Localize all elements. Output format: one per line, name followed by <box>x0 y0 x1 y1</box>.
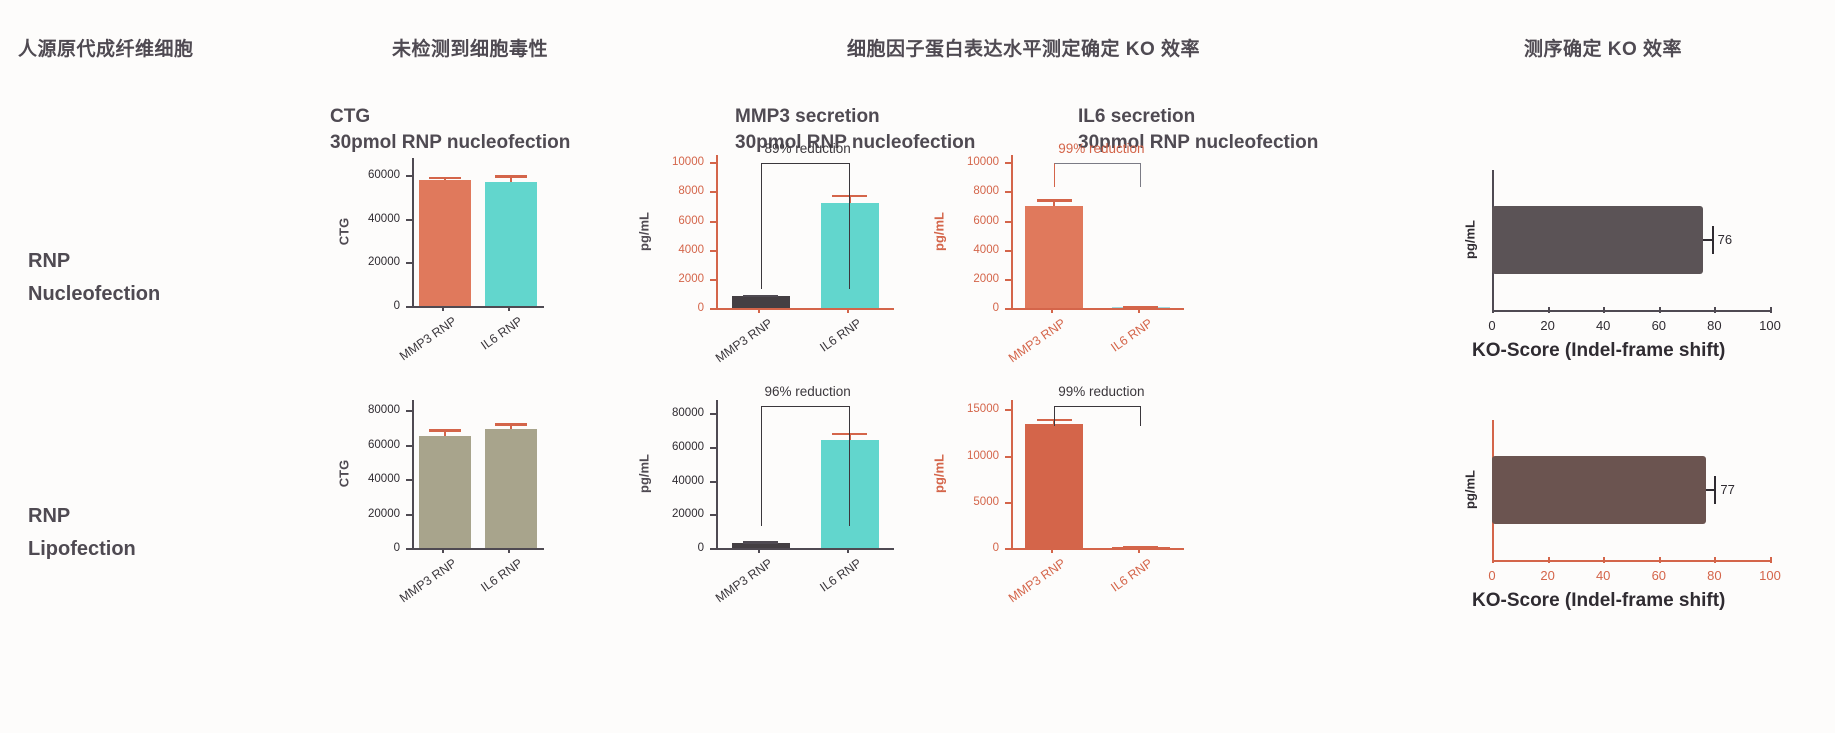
x-axis-tick-label: 60 <box>1652 568 1666 583</box>
bar-value-label: 77 <box>1720 482 1734 497</box>
y-axis-tick <box>710 250 716 252</box>
error-bar-cap <box>1123 546 1158 548</box>
bar <box>1492 206 1703 274</box>
y-axis-tick <box>710 162 716 164</box>
x-axis <box>1492 560 1770 562</box>
y-axis-tick <box>710 481 716 483</box>
y-axis-tick <box>1005 162 1011 164</box>
y-axis-tick-label: 5000 <box>943 496 999 508</box>
error-bar-cap <box>1123 306 1158 308</box>
error-bar-cap <box>495 175 526 177</box>
error-bar-cap <box>429 177 460 179</box>
x-axis-title: KO-Score (Indel-frame shift) <box>1472 590 1725 612</box>
x-axis-tick <box>1770 557 1772 563</box>
x-axis-tick <box>1548 307 1550 313</box>
y-axis <box>716 400 718 548</box>
x-axis-tick <box>1603 557 1605 563</box>
x-axis-tick <box>758 308 760 313</box>
y-axis-tick-label: 60000 <box>648 441 704 453</box>
y-axis <box>412 158 414 306</box>
x-axis-tick <box>1492 307 1494 313</box>
bar <box>1492 456 1706 524</box>
column-header-cell-type: 人源原代成纤维细胞 <box>18 34 194 61</box>
bar <box>732 296 790 308</box>
chart-title-ctg: CTG 30pmol RNP nucleofection <box>330 104 570 155</box>
x-axis-tick <box>1138 308 1140 313</box>
chart-title-line1: CTG <box>330 104 570 130</box>
chart-mmp3-lipofection: 020000400006000080000pg/mLMMP3 RNPIL6 RN… <box>630 400 900 600</box>
chart-title-line1: IL6 secretion <box>1078 104 1318 130</box>
y-axis-tick-label: 0 <box>648 542 704 554</box>
error-bar-cap <box>429 429 460 431</box>
x-axis-tick <box>758 548 760 553</box>
chart-ctg-lipofection: 020000400006000080000CTGMMP3 RNPIL6 RNP <box>340 400 550 600</box>
y-axis-tick <box>710 447 716 449</box>
y-axis-title: pg/mL <box>637 201 652 261</box>
x-axis-tick <box>847 548 849 553</box>
row-label-line1: RNP <box>28 245 160 278</box>
chart-ctg-nucleofection: 0200004000060000CTGMMP3 RNPIL6 RNP <box>340 158 550 358</box>
y-axis-tick-label: 10000 <box>943 156 999 168</box>
x-axis-tick <box>1051 308 1053 313</box>
error-bar-cap <box>495 423 526 425</box>
y-axis-tick-label: 8000 <box>648 185 704 197</box>
y-axis <box>716 155 718 308</box>
y-axis-tick <box>1005 279 1011 281</box>
x-axis-tick-label: 40 <box>1596 568 1610 583</box>
x-axis-tick <box>1492 557 1494 563</box>
bar <box>485 429 537 548</box>
x-axis <box>1492 310 1770 312</box>
y-axis-title: pg/mL <box>1463 460 1478 520</box>
chart-mmp3-nucleofection: 0200040006000800010000pg/mLMMP3 RNPIL6 R… <box>630 155 900 360</box>
error-bar-cap <box>743 295 778 297</box>
reduction-annotation: 99% reduction <box>1058 141 1144 156</box>
y-axis-title: CTG <box>337 202 352 262</box>
y-axis-tick <box>406 445 412 447</box>
y-axis-tick <box>406 514 412 516</box>
reduction-bracket <box>1054 163 1141 187</box>
y-axis-tick-label: 80000 <box>648 407 704 419</box>
y-axis-tick-label: 0 <box>943 302 999 314</box>
y-axis-tick-label: 60000 <box>348 439 400 451</box>
bar <box>1025 424 1083 548</box>
x-axis-category-label: IL6 RNP <box>1081 556 1155 613</box>
y-axis-tick-label: 60000 <box>348 169 400 181</box>
x-axis-category-label: IL6 RNP <box>790 316 864 373</box>
y-axis-tick <box>710 221 716 223</box>
y-axis-tick-label: 0 <box>943 542 999 554</box>
x-axis-category-label: IL6 RNP <box>1081 316 1155 373</box>
figure-root: 人源原代成纤维细胞 未检测到细胞毒性 细胞因子蛋白表达水平测定确定 KO 效率 … <box>0 0 1835 733</box>
x-axis <box>412 548 544 550</box>
y-axis-tick-label: 40000 <box>648 475 704 487</box>
row-label-line1: RNP <box>28 500 136 533</box>
y-axis-tick <box>406 219 412 221</box>
reduction-annotation: 99% reduction <box>1058 384 1144 399</box>
x-axis-tick-label: 0 <box>1488 318 1495 333</box>
y-axis-tick-label: 10000 <box>648 156 704 168</box>
x-axis-category-label: IL6 RNP <box>790 556 864 613</box>
x-axis-tick <box>847 308 849 313</box>
x-axis-tick-label: 80 <box>1707 318 1721 333</box>
x-axis-tick <box>1051 548 1053 553</box>
y-axis-tick <box>406 175 412 177</box>
chart-il6-nucleofection: 0200040006000800010000pg/mLMMP3 RNPIL6 R… <box>925 155 1190 360</box>
x-axis-tick-label: 100 <box>1759 318 1781 333</box>
bar <box>419 436 471 548</box>
x-axis-category-label: MMP3 RNP <box>385 314 459 371</box>
x-axis-tick-label: 80 <box>1707 568 1721 583</box>
y-axis-tick-label: 20000 <box>648 508 704 520</box>
reduction-bracket <box>761 406 850 526</box>
x-axis <box>412 306 544 308</box>
x-axis-tick <box>442 306 444 311</box>
row-label-lipofection: RNP Lipofection <box>28 500 136 566</box>
x-axis-category-label: MMP3 RNP <box>995 556 1069 613</box>
x-axis <box>716 548 894 550</box>
bar <box>419 180 471 306</box>
x-axis-category-label: MMP3 RNP <box>385 556 459 613</box>
y-axis-tick-label: 0 <box>648 302 704 314</box>
y-axis-tick-label: 8000 <box>943 185 999 197</box>
y-axis-tick-label: 20000 <box>348 256 400 268</box>
row-label-nucleofection: RNP Nucleofection <box>28 245 160 311</box>
error-bar <box>1706 489 1714 491</box>
x-axis-tick <box>1138 548 1140 553</box>
column-header-cytotoxicity: 未检测到细胞毒性 <box>392 34 548 61</box>
x-axis-category-label: MMP3 RNP <box>701 556 775 613</box>
x-axis-tick <box>1714 307 1716 313</box>
x-axis-tick <box>1659 557 1661 563</box>
x-axis-tick <box>1659 307 1661 313</box>
x-axis-tick <box>508 306 510 311</box>
x-axis-tick <box>1714 557 1716 563</box>
y-axis-tick-label: 0 <box>348 300 400 312</box>
y-axis-tick-label: 6000 <box>943 215 999 227</box>
x-axis <box>1011 308 1184 310</box>
y-axis-tick-label: 80000 <box>348 404 400 416</box>
y-axis-tick <box>406 410 412 412</box>
x-axis-tick <box>442 548 444 553</box>
y-axis-tick-label: 10000 <box>943 450 999 462</box>
chart-il6-lipofection: 050001000015000pg/mLMMP3 RNPIL6 RNP99% r… <box>925 400 1190 600</box>
chart-ko-score-nucleofection: pg/mL02040608010076KO-Score (Indel-frame… <box>1450 170 1810 360</box>
y-axis-tick <box>406 479 412 481</box>
reduction-bracket <box>1054 406 1141 426</box>
y-axis-tick <box>710 413 716 415</box>
chart-title-line2: 30pmol RNP nucleofection <box>330 130 570 156</box>
y-axis-tick-label: 0 <box>348 542 400 554</box>
y-axis-tick <box>710 514 716 516</box>
x-axis-title: KO-Score (Indel-frame shift) <box>1472 340 1725 362</box>
y-axis-tick-label: 2000 <box>943 273 999 285</box>
y-axis-title: pg/mL <box>932 201 947 261</box>
y-axis-tick-label: 40000 <box>348 473 400 485</box>
y-axis-tick-label: 40000 <box>348 213 400 225</box>
error-bar-cap <box>1712 226 1714 254</box>
x-axis-category-label: IL6 RNP <box>451 556 525 613</box>
x-axis-category-label: IL6 RNP <box>451 314 525 371</box>
y-axis-tick-label: 4000 <box>648 244 704 256</box>
x-axis-tick <box>1770 307 1772 313</box>
y-axis-tick <box>1005 191 1011 193</box>
y-axis-tick <box>710 279 716 281</box>
column-header-sequencing-ko: 测序确定 KO 效率 <box>1524 34 1682 61</box>
y-axis-title: CTG <box>337 444 352 504</box>
y-axis-tick-label: 2000 <box>648 273 704 285</box>
x-axis-category-label: MMP3 RNP <box>995 316 1069 373</box>
column-header-protein-ko: 细胞因子蛋白表达水平测定确定 KO 效率 <box>847 34 1200 61</box>
x-axis-tick-label: 100 <box>1759 568 1781 583</box>
error-bar-cap <box>743 541 778 543</box>
bar <box>485 182 537 306</box>
x-axis-tick-label: 40 <box>1596 318 1610 333</box>
x-axis-category-label: MMP3 RNP <box>701 316 775 373</box>
y-axis <box>1011 400 1013 548</box>
y-axis-tick <box>1005 409 1011 411</box>
bar <box>1025 206 1083 308</box>
bar-value-label: 76 <box>1718 232 1732 247</box>
y-axis-title: pg/mL <box>932 444 947 504</box>
y-axis-tick <box>1005 456 1011 458</box>
x-axis-tick <box>1603 307 1605 313</box>
y-axis-tick-label: 15000 <box>943 403 999 415</box>
y-axis-tick <box>1005 502 1011 504</box>
x-axis-tick-label: 20 <box>1540 318 1554 333</box>
y-axis <box>412 400 414 548</box>
x-axis-tick-label: 20 <box>1540 568 1554 583</box>
error-bar <box>1703 239 1711 241</box>
x-axis-tick-label: 60 <box>1652 318 1666 333</box>
x-axis-tick <box>1548 557 1550 563</box>
y-axis-tick-label: 6000 <box>648 215 704 227</box>
y-axis <box>1011 155 1013 308</box>
reduction-annotation: 89% reduction <box>765 141 851 156</box>
chart-title-line1: MMP3 secretion <box>735 104 975 130</box>
y-axis-title: pg/mL <box>637 444 652 504</box>
y-axis-tick-label: 20000 <box>348 508 400 520</box>
x-axis-tick <box>508 548 510 553</box>
y-axis-tick <box>1005 221 1011 223</box>
reduction-bracket <box>761 163 850 289</box>
reduction-annotation: 96% reduction <box>765 384 851 399</box>
row-label-line2: Nucleofection <box>28 278 160 311</box>
x-axis <box>716 308 894 310</box>
row-label-line2: Lipofection <box>28 533 136 566</box>
error-bar-cap <box>1714 476 1716 504</box>
y-axis-tick <box>710 191 716 193</box>
y-axis-tick <box>406 262 412 264</box>
y-axis-title: pg/mL <box>1463 210 1478 270</box>
y-axis-tick-label: 4000 <box>943 244 999 256</box>
chart-ko-score-lipofection: pg/mL02040608010077KO-Score (Indel-frame… <box>1450 420 1810 610</box>
error-bar-cap <box>1037 199 1072 201</box>
x-axis-tick-label: 0 <box>1488 568 1495 583</box>
y-axis-tick <box>1005 250 1011 252</box>
